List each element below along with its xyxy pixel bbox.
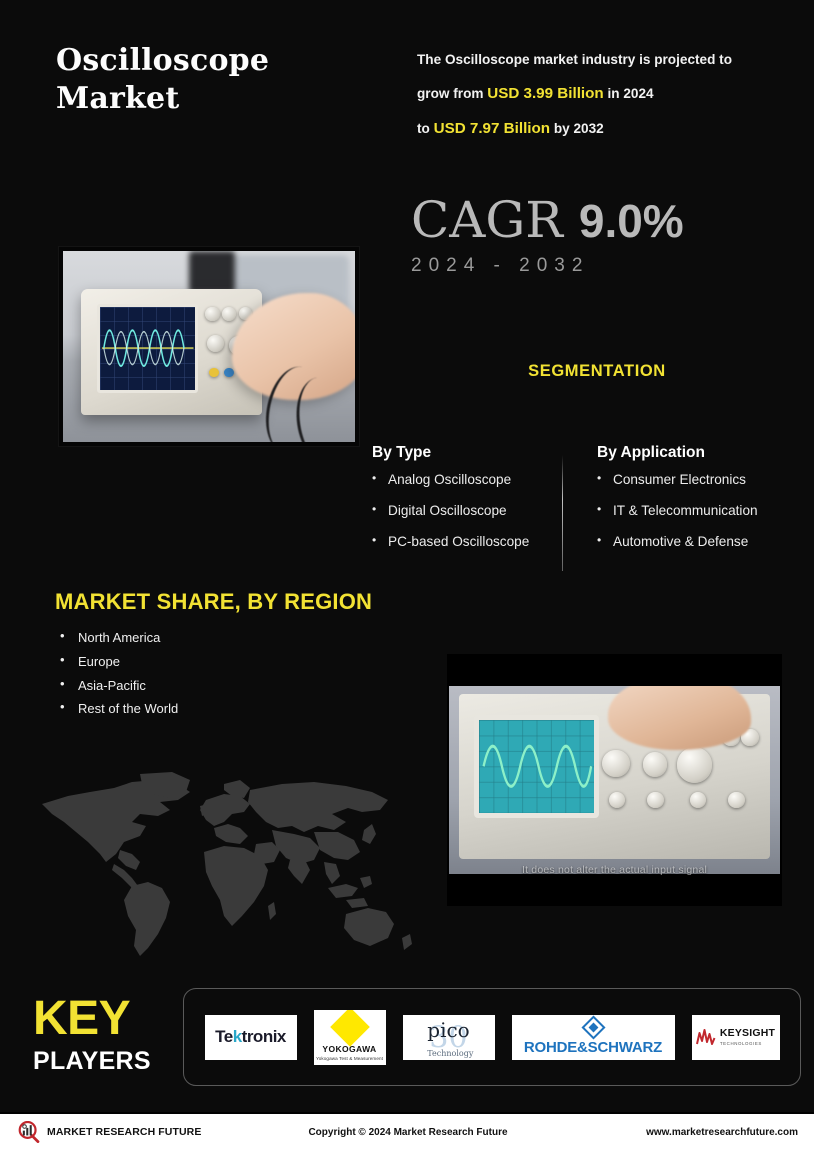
list-item: Automotive & Defense [597, 535, 797, 550]
cagr-block: CAGR 9.0% 2024 - 2032 [411, 196, 801, 277]
key-players-label-players: PLAYERS [33, 1046, 173, 1076]
segmentation-heading-by-type: By Type [372, 444, 557, 462]
world-map [28, 766, 428, 966]
list-item: IT & Telecommunication [597, 504, 797, 519]
rohde-schwarz-diamond-icon [581, 1015, 605, 1039]
analog-oscilloscope-video: It does not alter the actual input signa… [447, 654, 782, 906]
intro-line-2: grow from USD 3.99 Billion in 2024 [417, 76, 787, 111]
logo-pico-technology: 30 pico Technology [403, 1015, 495, 1060]
segmentation-title: SEGMENTATION [417, 362, 777, 381]
tektronix-wordmark: Tektronix [215, 1027, 286, 1047]
tektronix-word-a: Te [215, 1027, 233, 1046]
intro-line-1-text: The Oscilloscope market industry is proj… [417, 52, 732, 67]
list-item: Europe [58, 655, 178, 669]
logo-tektronix: Tektronix [205, 1015, 297, 1060]
keysight-wordmark: KEYSIGHT [720, 1028, 775, 1039]
intro-line-2-prefix: grow from [417, 86, 487, 101]
rohde-schwarz-wordmark: ROHDE&SCHWARZ [524, 1039, 662, 1056]
footer-url[interactable]: www.marketresearchfuture.com [548, 1127, 798, 1138]
yokogawa-diamond-icon [330, 1010, 370, 1047]
scope-screen [97, 304, 198, 392]
logo-rohde-schwarz: ROHDE&SCHWARZ [512, 1015, 675, 1060]
key-players-label: KEY PLAYERS [33, 996, 173, 1076]
segmentation-column-by-type: By Type Analog Oscilloscope Digital Osci… [372, 444, 557, 566]
key-players-label-key: KEY [33, 996, 173, 1042]
video-caption: It does not alter the actual input signa… [447, 864, 782, 876]
pico-wordmark: pico [427, 1018, 469, 1042]
yokogawa-tagline: Yokogawa Test & Measurement [316, 1056, 383, 1061]
logo-yokogawa: YOKOGAWA Yokogawa Test & Measurement [314, 1010, 386, 1065]
market-research-future-logo-icon [18, 1121, 40, 1143]
intro-line-2-suffix: in 2024 [604, 86, 654, 101]
tektronix-word-k: k [233, 1027, 242, 1046]
cagr-label: CAGR [411, 191, 579, 249]
intro-paragraph: The Oscilloscope market industry is proj… [417, 44, 787, 147]
list-item: Digital Oscilloscope [372, 504, 557, 519]
page-title: Oscilloscope Market [56, 42, 386, 119]
list-item: North America [58, 631, 178, 645]
cagr-headline: CAGR 9.0% [411, 196, 801, 245]
segmentation-column-by-application: By Application Consumer Electronics IT &… [597, 444, 797, 566]
intro-line-3-suffix: by 2032 [550, 121, 604, 136]
pico-tagline: Technology [427, 1049, 473, 1058]
segmentation-heading-by-application: By Application [597, 444, 797, 462]
market-value-2024: USD 3.99 Billion [487, 85, 603, 102]
keysight-wave-icon [696, 1029, 716, 1045]
list-item: Consumer Electronics [597, 473, 797, 488]
digital-oscilloscope-photo [58, 246, 360, 447]
footer-brand-text: MARKET RESEARCH FUTURE [47, 1126, 201, 1138]
logo-keysight: KEYSIGHT TECHNOLOGIES [692, 1015, 780, 1060]
intro-line-3: to USD 7.97 Billion by 2032 [417, 111, 787, 146]
segmentation-list-by-application: Consumer Electronics IT & Telecommunicat… [597, 473, 797, 550]
list-item: Rest of the World [58, 702, 178, 716]
list-item: PC-based Oscilloscope [372, 535, 557, 550]
footer-copyright: Copyright © 2024 Market Research Future [268, 1127, 548, 1138]
tektronix-word-b: tronix [242, 1027, 286, 1046]
footer-brand: MARKET RESEARCH FUTURE [18, 1121, 268, 1143]
market-value-2032: USD 7.97 Billion [434, 120, 550, 137]
key-players-logo-box: Tektronix YOKOGAWA Yokogawa Test & Measu… [183, 988, 801, 1086]
cagr-period: 2024 - 2032 [411, 255, 801, 277]
cagr-value: 9.0% [579, 195, 684, 247]
segmentation-list-by-type: Analog Oscilloscope Digital Oscilloscope… [372, 473, 557, 550]
market-share-title: MARKET SHARE, BY REGION [55, 589, 372, 615]
list-item: Asia-Pacific [58, 679, 178, 693]
list-item: Analog Oscilloscope [372, 473, 557, 488]
keysight-tagline: TECHNOLOGIES [720, 1041, 775, 1046]
analog-scope-screen [474, 715, 598, 818]
footer: MARKET RESEARCH FUTURE Copyright © 2024 … [0, 1114, 814, 1150]
region-list: North America Europe Asia-Pacific Rest o… [58, 631, 178, 726]
intro-line-3-prefix: to [417, 121, 434, 136]
intro-line-1: The Oscilloscope market industry is proj… [417, 44, 787, 76]
segmentation-divider [562, 455, 563, 571]
world-map-svg [28, 766, 428, 966]
